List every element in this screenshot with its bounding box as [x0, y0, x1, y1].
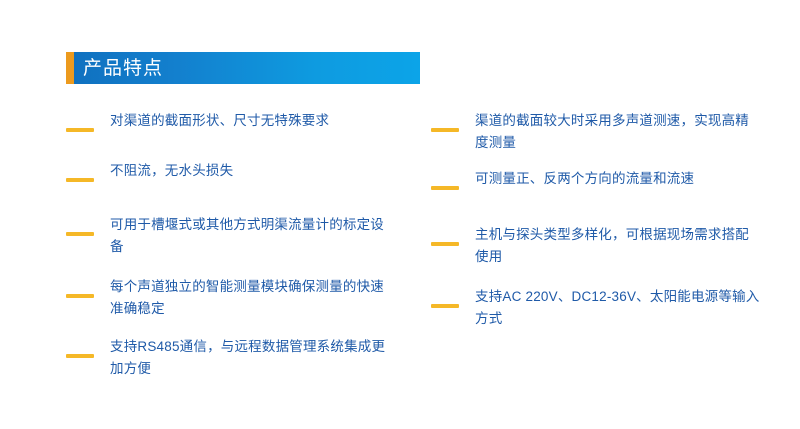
page-title: 产品特点 [74, 59, 163, 78]
list-item-label: 支持AC 220V、DC12-36V、太阳能电源等输入方式 [475, 286, 761, 330]
feature-columns: 对渠道的截面形状、尺寸无特殊要求 不阻流，无水头损失 可用于槽堰式或其他方式明渠… [0, 110, 800, 400]
list-item: 每个声道独立的智能测量模块确保测量的快速准确稳定 [66, 276, 396, 320]
dash-marker-icon [66, 232, 94, 236]
dash-marker-icon [431, 304, 459, 308]
list-item-label: 渠道的截面较大时采用多声道测速，实现高精度测量 [475, 110, 761, 154]
dash-marker-icon [66, 178, 94, 182]
dash-marker-icon [66, 354, 94, 358]
header-bar: 产品特点 [74, 52, 420, 84]
list-item: 对渠道的截面形状、尺寸无特殊要求 [66, 110, 396, 132]
list-item-label: 可测量正、反两个方向的流量和流速 [475, 168, 761, 190]
feature-column-right: 渠道的截面较大时采用多声道测速，实现高精度测量 可测量正、反两个方向的流量和流速… [431, 110, 761, 354]
slide-root: 产品特点 对渠道的截面形状、尺寸无特殊要求 不阻流，无水头损失 可用于槽堰式或其… [0, 0, 800, 429]
header-accent-block [66, 52, 74, 84]
list-item-label: 可用于槽堰式或其他方式明渠流量计的标定设备 [110, 214, 396, 258]
dash-marker-icon [66, 128, 94, 132]
list-item: 不阻流，无水头损失 [66, 160, 396, 182]
list-item-label: 主机与探头类型多样化，可根据现场需求搭配使用 [475, 224, 761, 268]
list-item-label: 每个声道独立的智能测量模块确保测量的快速准确稳定 [110, 276, 396, 320]
dash-marker-icon [66, 294, 94, 298]
list-item: 主机与探头类型多样化，可根据现场需求搭配使用 [431, 224, 761, 268]
dash-marker-icon [431, 186, 459, 190]
feature-column-left: 对渠道的截面形状、尺寸无特殊要求 不阻流，无水头损失 可用于槽堰式或其他方式明渠… [66, 110, 396, 404]
list-item-label: 不阻流，无水头损失 [110, 160, 396, 182]
list-item: 支持RS485通信，与远程数据管理系统集成更加方便 [66, 336, 396, 380]
list-item: 可测量正、反两个方向的流量和流速 [431, 168, 761, 190]
dash-marker-icon [431, 242, 459, 246]
list-item: 可用于槽堰式或其他方式明渠流量计的标定设备 [66, 214, 396, 258]
list-item-label: 对渠道的截面形状、尺寸无特殊要求 [110, 110, 396, 132]
list-item: 支持AC 220V、DC12-36V、太阳能电源等输入方式 [431, 286, 761, 330]
list-item: 渠道的截面较大时采用多声道测速，实现高精度测量 [431, 110, 761, 154]
section-header: 产品特点 [66, 52, 420, 84]
list-item-label: 支持RS485通信，与远程数据管理系统集成更加方便 [110, 336, 396, 380]
dash-marker-icon [431, 128, 459, 132]
